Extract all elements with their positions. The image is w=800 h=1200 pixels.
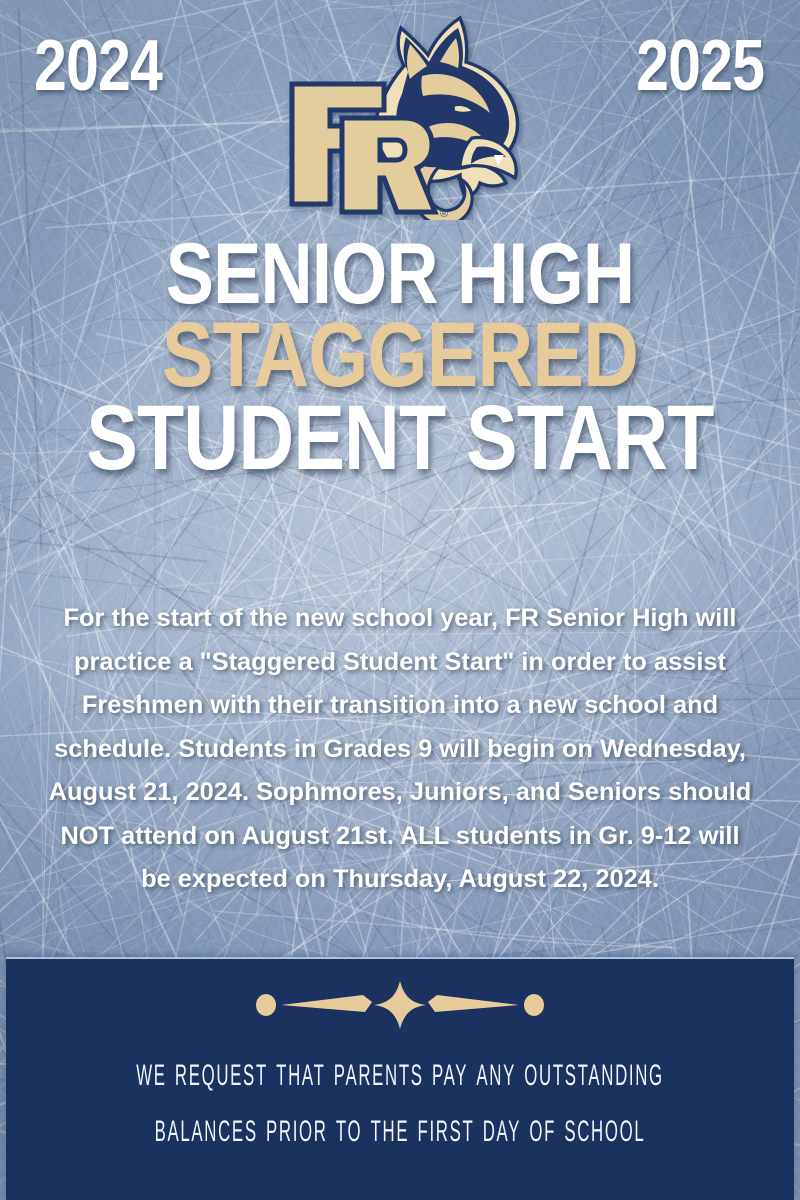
headline-line-1: SENIOR HIGH [64,238,736,312]
end-year-label: 2025 [636,30,764,102]
body-paragraph: For the start of the new school year, FR… [44,597,756,902]
headline-line-2-highlight: STAGGERED [64,316,736,395]
banner-line-1: We request that parents pay any outstand… [124,1051,676,1092]
ornament-star-center [374,981,426,1029]
poster-canvas: 2024 2025 [0,0,800,1200]
headline-block: SENIOR HIGH STAGGERED STUDENT START [0,238,800,478]
ornament-dot-left [256,994,276,1016]
ornament-dot-right [524,994,544,1016]
footer-banner: We request that parents pay any outstand… [6,957,794,1200]
diamond-flourish-divider [255,981,545,1029]
logo-letter-r [342,118,435,212]
headline-line-3: STUDENT START [64,399,736,478]
banner-line-2: balances prior to the first day of schoo… [124,1107,676,1148]
ornament-taper-right [428,995,519,1012]
start-year-label: 2024 [34,30,162,102]
registered-trademark-icon: ® [440,208,448,220]
fr-cougars-logo: ® [272,14,528,220]
ornament-taper-left [281,995,372,1012]
